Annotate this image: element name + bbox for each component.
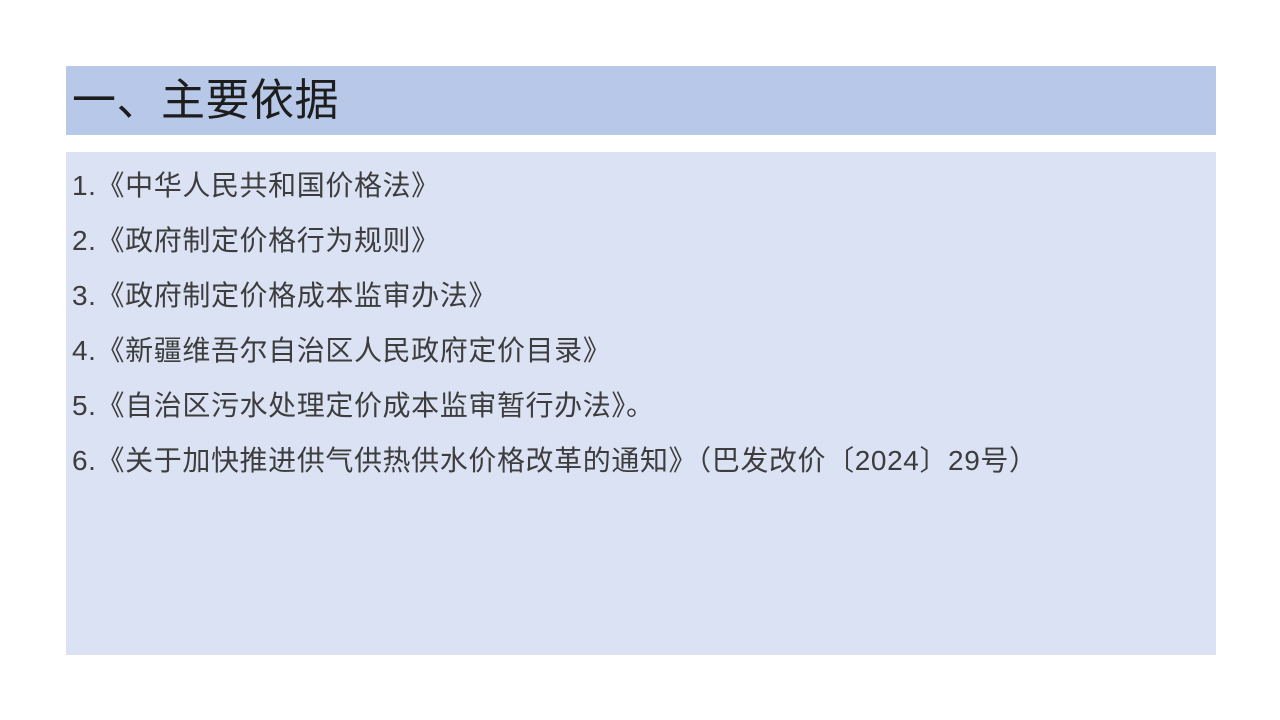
list-item: 6.《关于加快推进供气供热供水价格改革的通知》（巴发改价〔2024〕29号）: [66, 441, 1216, 481]
slide-body-panel: 1.《中华人民共和国价格法》 2.《政府制定价格行为规则》 3.《政府制定价格成…: [66, 152, 1216, 655]
reference-list: 1.《中华人民共和国价格法》 2.《政府制定价格行为规则》 3.《政府制定价格成…: [66, 166, 1216, 481]
page-title: 一、主要依据: [66, 79, 339, 123]
slide-title-band: 一、主要依据: [66, 66, 1216, 135]
list-item: 2.《政府制定价格行为规则》: [66, 221, 1216, 261]
list-item: 3.《政府制定价格成本监审办法》: [66, 276, 1216, 316]
list-item: 1.《中华人民共和国价格法》: [66, 166, 1216, 206]
slide-canvas: 一、主要依据 1.《中华人民共和国价格法》 2.《政府制定价格行为规则》 3.《…: [0, 0, 1280, 720]
list-item: 5.《自治区污水处理定价成本监审暂行办法》。: [66, 386, 1216, 426]
list-item: 4.《新疆维吾尔自治区人民政府定价目录》: [66, 331, 1216, 371]
